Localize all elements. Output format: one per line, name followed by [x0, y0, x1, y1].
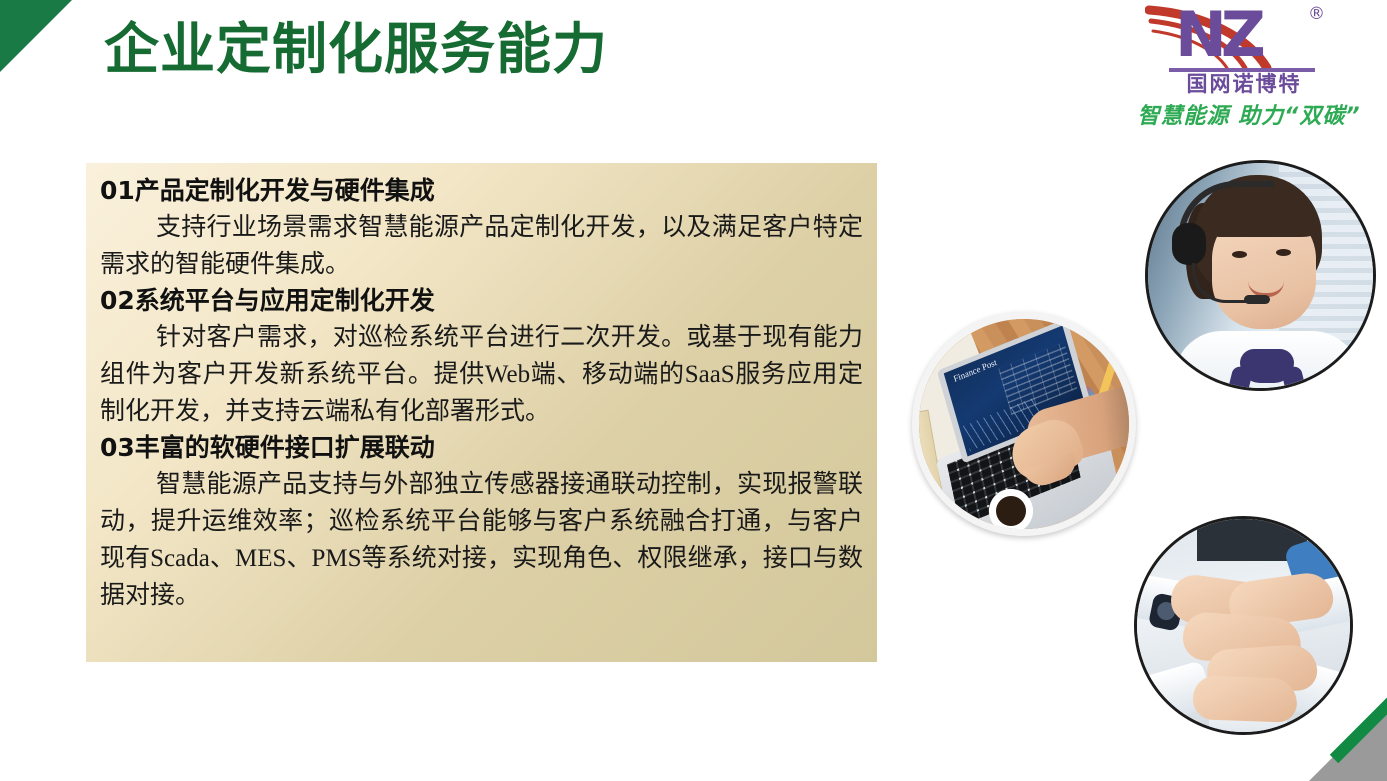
logo-nz-letters: NZ — [1175, 0, 1260, 70]
section-heading-02: 02系统平台与应用定制化开发 — [100, 283, 863, 319]
section-body-03: 智慧能源产品支持与外部独立传感器接通联动控制，实现报警联动，提升运维效率；巡检系… — [100, 466, 863, 614]
coffee-cup — [989, 489, 1033, 533]
section-heading-01: 01产品定制化开发与硬件集成 — [100, 173, 863, 209]
company-logo: NZ ® 国网诺博特 智慧能源 助力“双碳” — [1117, 2, 1379, 140]
top-left-green-triangle — [0, 0, 72, 72]
eye-left — [1232, 251, 1247, 258]
company-name: 国网诺博特 — [1169, 70, 1319, 98]
section-body-02: 针对客户需求，对巡检系统平台进行二次开发。或基于现有能力组件为客户开发新系统平台… — [100, 319, 863, 430]
content-panel: 01产品定制化开发与硬件集成 支持行业场景需求智慧能源产品定制化开发，以及满足客… — [86, 163, 877, 662]
section-body-01: 支持行业场景需求智慧能源产品定制化开发，以及满足客户特定需求的智能硬件集成。 — [100, 209, 863, 283]
headset-earcup — [1172, 223, 1206, 265]
screen-title: Finance Post — [952, 357, 998, 384]
team-hands-photo — [1134, 516, 1353, 735]
customer-service-agent-photo — [1145, 160, 1376, 391]
eye-right — [1276, 249, 1291, 256]
logo-mark: NZ ® — [1145, 2, 1355, 72]
headset-microphone — [1244, 295, 1270, 304]
laptop-finance-photo: Finance Post — [912, 312, 1136, 536]
company-tagline: 智慧能源 助力“双碳” — [1123, 102, 1375, 132]
section-heading-03: 03丰富的软硬件接口扩展联动 — [100, 430, 863, 466]
neck-bow — [1240, 349, 1294, 383]
page-title: 企业定制化服务能力 — [104, 16, 608, 82]
hand — [1192, 675, 1297, 723]
registered-trademark-icon: ® — [1308, 4, 1325, 24]
